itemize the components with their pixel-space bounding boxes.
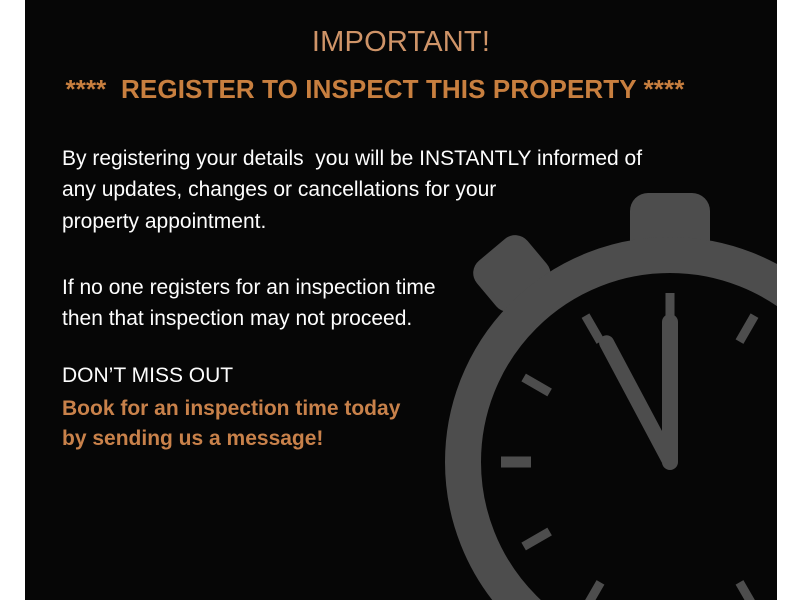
poster-panel: IMPORTANT! **** REGISTER TO INSPECT THIS… xyxy=(25,0,777,600)
body-paragraph2-line1: If no one registers for an inspection ti… xyxy=(62,277,436,298)
headline-important: IMPORTANT! xyxy=(25,28,777,58)
right-white-band xyxy=(777,0,800,600)
poster-canvas: IMPORTANT! **** REGISTER TO INSPECT THIS… xyxy=(0,0,800,600)
headline-register-to-inspect: **** REGISTER TO INSPECT THIS PROPERTY *… xyxy=(25,76,725,103)
body-paragraph2-line2: then that inspection may not proceed. xyxy=(62,308,412,329)
poster-text-layer: IMPORTANT! **** REGISTER TO INSPECT THIS… xyxy=(25,0,777,600)
callout-send-message: by sending us a message! xyxy=(62,428,323,449)
body-paragraph1-line3: property appointment. xyxy=(62,211,266,232)
callout-dont-miss-out: DON’T MISS OUT xyxy=(62,365,233,386)
body-paragraph1-line1: By registering your details you will be … xyxy=(62,148,642,169)
left-white-band xyxy=(0,0,25,600)
body-paragraph1-line2: any updates, changes or cancellations fo… xyxy=(62,179,496,200)
callout-book-inspection: Book for an inspection time today xyxy=(62,398,400,419)
